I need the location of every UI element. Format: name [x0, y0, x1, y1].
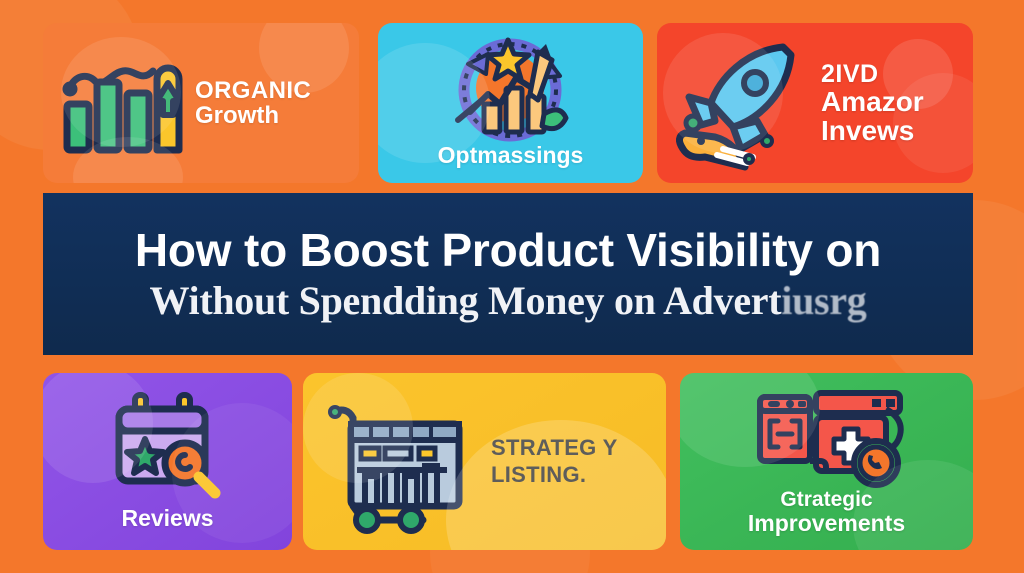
card-strategic-improvements-label: Gtrategic Improvements [748, 489, 905, 536]
card-organic-growth[interactable]: ORGANIC Growth [43, 23, 359, 183]
title-banner: How to Boost Product Visibility on Witho… [43, 193, 973, 355]
card-reviews[interactable]: Reviews [43, 373, 292, 550]
title-line-2-garbled: iusrg [781, 278, 866, 323]
card-reviews-label: Reviews [121, 505, 213, 532]
title-line-2-prefix: Without Spendding Money on Advert [150, 278, 782, 323]
bar-chart-growth-arrow-icon [61, 49, 179, 157]
card-amazon-reviews[interactable]: 2IVD Amazor Invews [657, 23, 973, 183]
card-amazon-reviews-label: 2IVD Amazor Invews [821, 61, 924, 145]
calendar-star-magnifier-icon [109, 391, 227, 503]
title-line-1: How to Boost Product Visibility on [135, 226, 881, 274]
globe-chart-star-pencil-icon [448, 38, 574, 146]
shopping-cart-storefront-icon [323, 396, 469, 528]
rocket-launch-icon [671, 37, 811, 169]
card-optimisations[interactable]: Optmassings [378, 23, 643, 183]
card-strategy-listing[interactable]: STRATEG Y LISTING. [303, 373, 666, 550]
infographic-canvas: ORGANIC Growth [0, 0, 1024, 573]
card-strategy-listing-label: STRATEG Y LISTING. [491, 435, 618, 489]
card-strategic-improvements[interactable]: Gtrategic Improvements [680, 373, 973, 550]
devices-support-headset-icon [744, 387, 910, 491]
card-optimisations-label: Optmassings [438, 142, 584, 169]
title-line-2: Without Spendding Money on Advertiusrg [150, 280, 867, 322]
card-organic-growth-label: ORGANIC Growth [195, 78, 311, 129]
